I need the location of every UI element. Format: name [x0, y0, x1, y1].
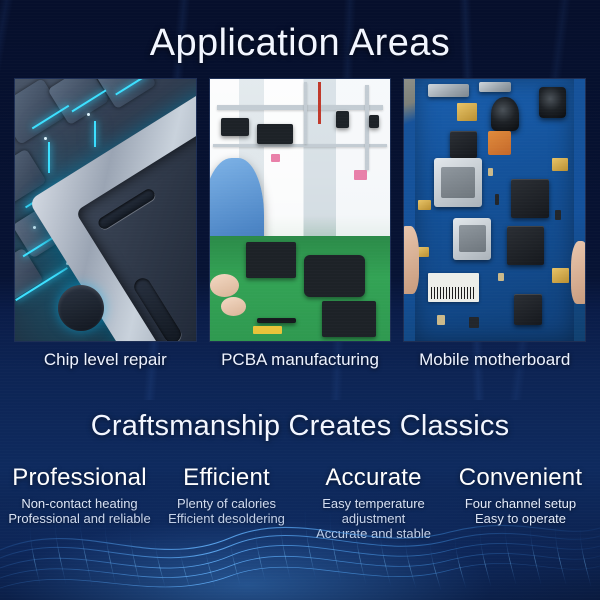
gallery-captions: Chip level repair PCBA manufacturing Mob…: [14, 348, 586, 374]
circuit-board-closeup-image: [15, 79, 196, 341]
section-subtitle: Craftsmanship Creates Classics: [0, 408, 600, 444]
pcb-substrate: [415, 79, 574, 341]
caption-mobile-motherboard: Mobile motherboard: [403, 348, 586, 374]
smartphone-motherboard-image: [404, 79, 585, 341]
factory-assembly-line-image: [210, 79, 391, 341]
image-gallery: [14, 78, 586, 340]
caption-pcba-manufacturing: PCBA manufacturing: [209, 348, 392, 374]
gallery-image-mobile-motherboard: [403, 78, 586, 342]
digital-wave-graphic: [0, 480, 600, 600]
page-title: Application Areas: [0, 20, 600, 66]
poster: Application Areas: [0, 0, 600, 600]
gallery-image-chip-level-repair: [14, 78, 197, 342]
barcode-label: [428, 273, 479, 302]
gallery-image-pcba-manufacturing: [209, 78, 392, 342]
caption-chip-level-repair: Chip level repair: [14, 348, 197, 374]
board-knob: [58, 285, 104, 331]
green-workbench: [210, 236, 391, 341]
